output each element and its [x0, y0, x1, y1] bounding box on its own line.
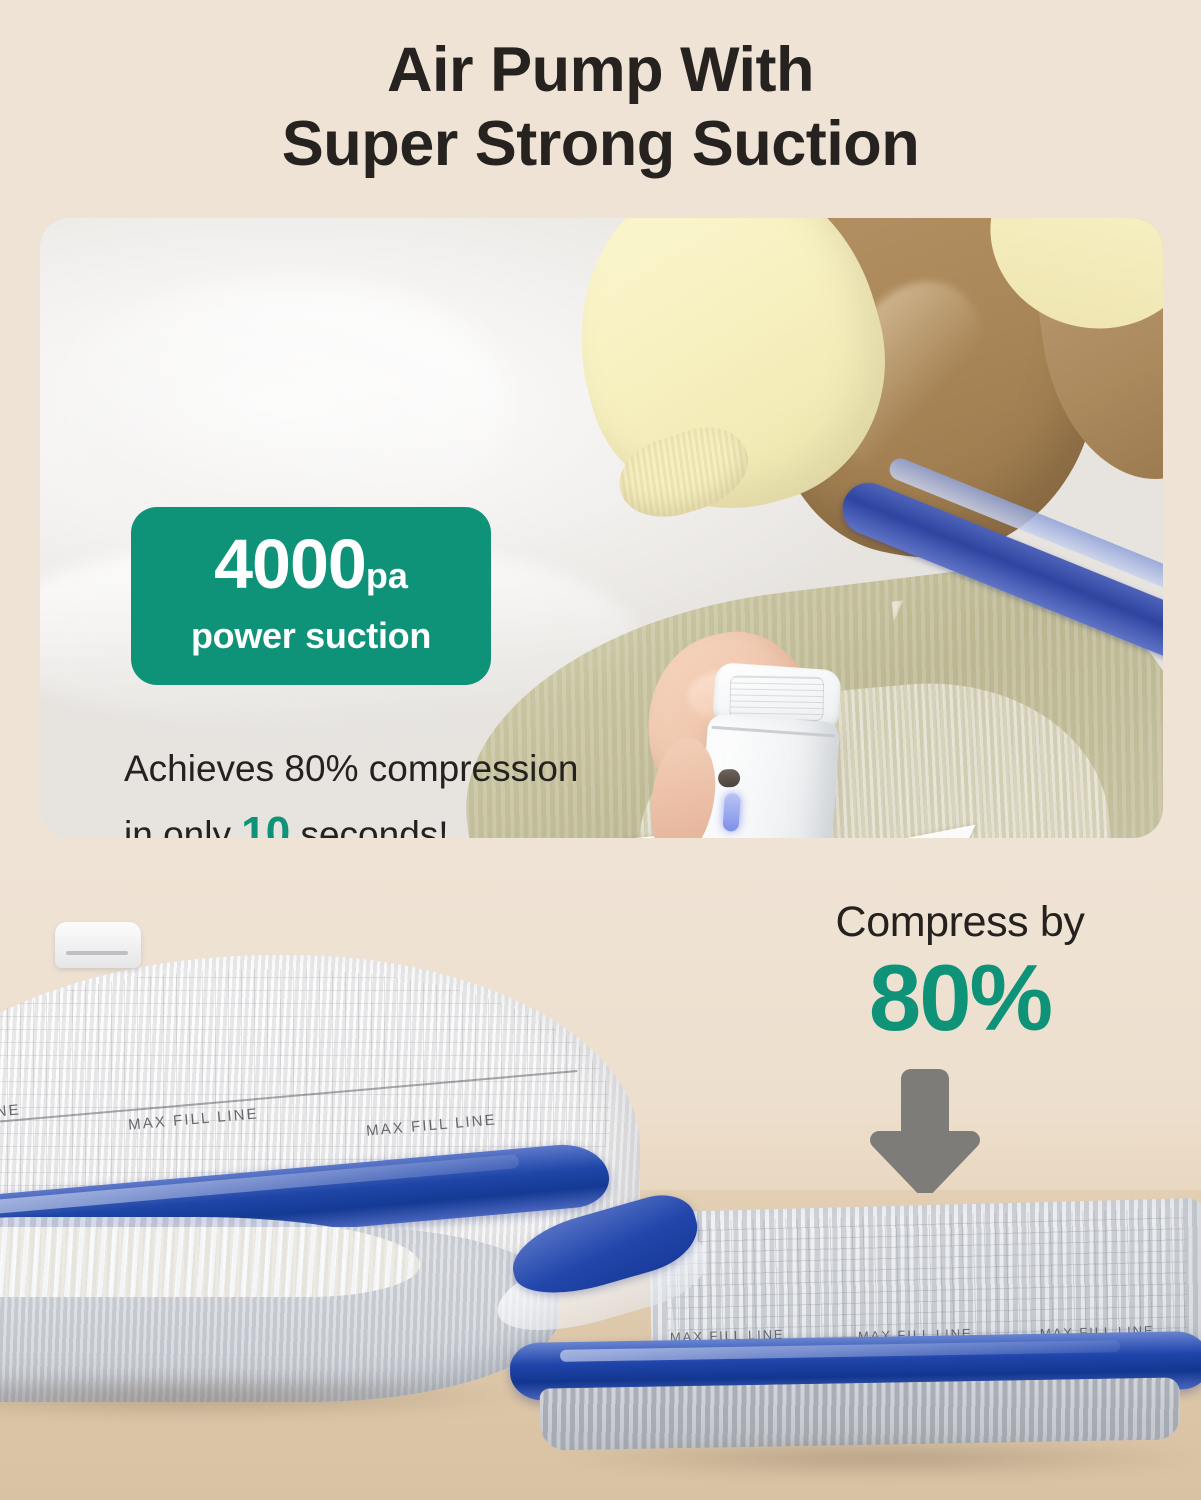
suction-value-row: 4000pa — [131, 529, 491, 599]
claim-seconds-value: 10 — [241, 808, 290, 838]
pump-vent-slot — [718, 769, 741, 788]
inflated-bag-shadow — [0, 1373, 540, 1421]
claim-pre: in only — [124, 814, 241, 838]
bag-valve-cap — [55, 922, 141, 968]
suction-arrow-5 — [902, 818, 1036, 838]
pump-spec-label — [729, 675, 824, 721]
suction-unit: pa — [366, 555, 408, 596]
page-title: Air Pump With Super Strong Suction — [0, 33, 1201, 182]
hero-photo-card: 4000pa power suction Achieves 80% compre… — [40, 218, 1163, 838]
compressed-storage-bag: MAX FILL LINE MAX FILL LINE MAX FILL LIN… — [520, 1205, 1201, 1455]
suction-spec-badge: 4000pa power suction — [131, 507, 491, 685]
suction-value: 4000 — [214, 525, 366, 603]
pump-power-indicator — [722, 793, 741, 832]
compression-claim-line-1: Achieves 80% compression — [124, 740, 664, 798]
compression-claim-line-2: in only 10 seconds! — [124, 798, 664, 838]
compress-callout-label: Compress by — [760, 898, 1160, 947]
air-pump-device — [692, 661, 848, 838]
inflated-bag-fill-labels: MAX FILL LINE MAX FILL LINE MAX FILL LIN… — [0, 1107, 640, 1141]
compress-callout-percent: 80% — [760, 949, 1160, 1048]
bag-valve-seam — [66, 951, 128, 955]
claim-post: seconds! — [290, 814, 448, 838]
max-fill-line-label: MAX FILL LINE — [128, 1105, 260, 1133]
max-fill-line-label: MAX FILL LINE — [0, 1101, 21, 1129]
page-title-line-1: Air Pump With — [387, 35, 814, 105]
max-fill-line-label: MAX FILL LINE — [366, 1111, 498, 1139]
compress-callout: Compress by 80% — [760, 898, 1160, 1048]
arrow-down-icon — [845, 1063, 985, 1193]
compression-claim: Achieves 80% compression in only 10 seco… — [124, 740, 664, 838]
suction-caption: power suction — [131, 615, 491, 657]
bedding-fold-secondary — [62, 280, 511, 528]
page-title-line-2: Super Strong Suction — [0, 107, 1201, 181]
compressed-bag-shadow — [560, 1437, 1200, 1479]
